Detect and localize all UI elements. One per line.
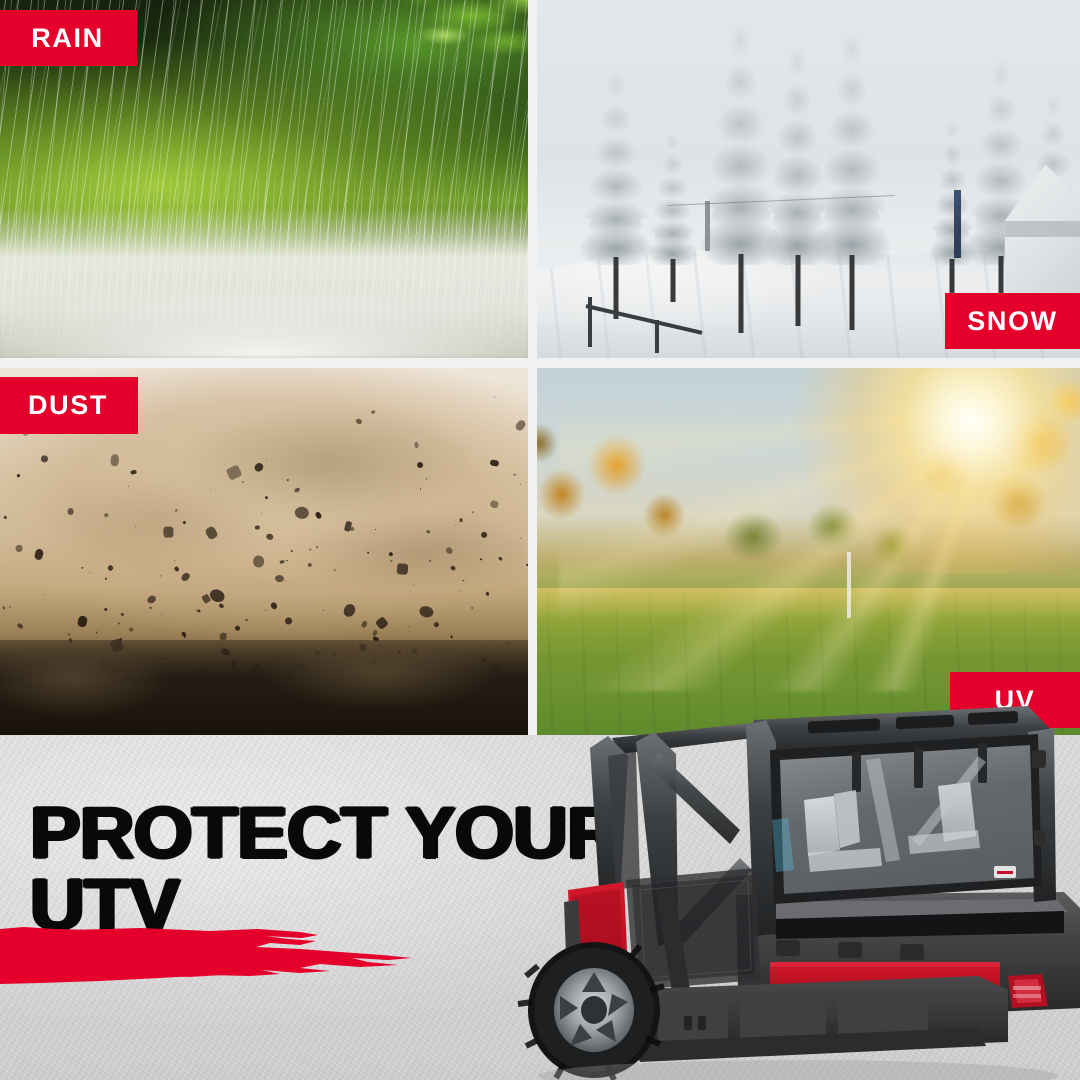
badge-dust-label: DUST	[28, 392, 108, 419]
poster-canvas: RAIN SNOW DUST UV PROTECT YOUR UTV	[0, 0, 1080, 1080]
badge-snow: SNOW	[945, 293, 1080, 349]
snow-sign-post	[705, 201, 710, 251]
utv-lower-body	[620, 976, 1008, 1062]
badge-dust: DUST	[0, 377, 138, 434]
rain-mist	[0, 161, 528, 358]
sun-flare-icon	[776, 368, 1080, 574]
weather-photo-grid	[0, 0, 1080, 735]
snow-tree	[803, 14, 901, 265]
snow-railing	[586, 294, 705, 351]
badge-rain-label: RAIN	[31, 25, 103, 52]
dust-soil	[0, 640, 528, 735]
red-brush-stroke	[0, 925, 540, 995]
utv-rear-window-panel	[770, 734, 1046, 904]
badge-rain: RAIN	[0, 10, 137, 66]
snow-lift-pole	[954, 190, 961, 258]
utv-vehicle-image	[508, 690, 1080, 1080]
badge-snow-label: SNOW	[967, 308, 1057, 335]
